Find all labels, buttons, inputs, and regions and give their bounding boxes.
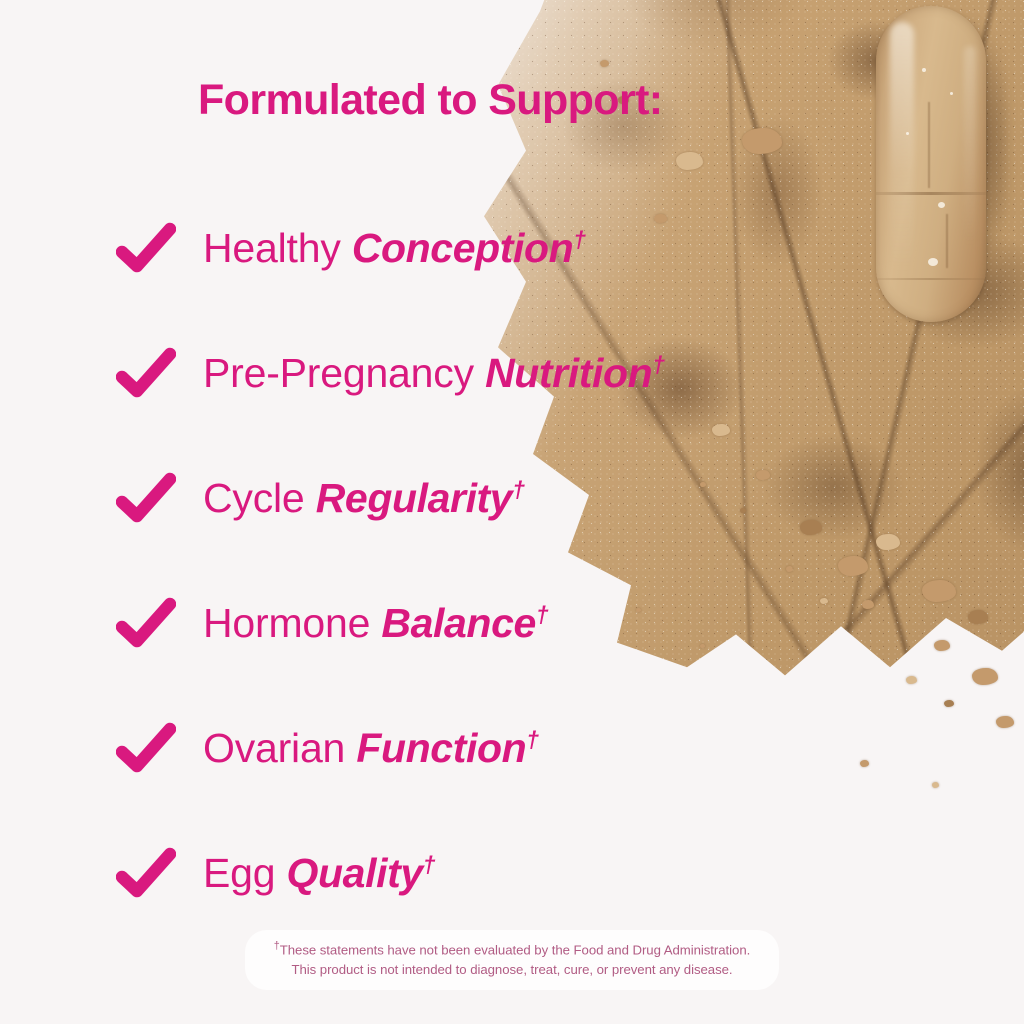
page-title: Formulated to Support: [198, 76, 663, 125]
benefit-emphasis: Regularity [316, 475, 513, 521]
list-item-text: Cycle Regularity† [203, 478, 525, 519]
checkmark-icon [116, 846, 176, 902]
list-item-text: Egg Quality† [203, 853, 436, 894]
list-item-text: Pre-Pregnancy Nutrition† [203, 353, 665, 394]
benefit-dagger: † [526, 726, 539, 752]
list-item: Cycle Regularity† [0, 436, 1024, 561]
list-item: Ovarian Function† [0, 686, 1024, 811]
benefit-lead: Hormone [203, 600, 381, 646]
list-item: Egg Quality† [0, 811, 1024, 936]
list-item: Hormone Balance† [0, 561, 1024, 686]
list-item-text: Ovarian Function† [203, 728, 539, 769]
benefits-list: Healthy Conception† Pre-Pregnancy Nutrit… [0, 186, 1024, 936]
benefit-dagger: † [423, 851, 436, 877]
checkmark-icon [116, 596, 176, 652]
benefit-emphasis: Nutrition [485, 350, 652, 396]
disclaimer-line-1: †These statements have not been evaluate… [267, 939, 757, 960]
benefit-lead: Ovarian [203, 725, 356, 771]
benefit-dagger: † [536, 601, 549, 627]
benefit-dagger: † [573, 226, 586, 252]
checkmark-icon [116, 721, 176, 777]
disclaimer-line-2: This product is not intended to diagnose… [267, 960, 757, 979]
checkmark-icon [116, 221, 176, 277]
disclaimer-line-1-text: These statements have not been evaluated… [280, 942, 750, 957]
benefit-dagger: † [652, 351, 665, 377]
benefit-emphasis: Quality [287, 850, 423, 896]
list-item: Pre-Pregnancy Nutrition† [0, 311, 1024, 436]
benefit-emphasis: Function [356, 725, 526, 771]
list-item-text: Hormone Balance† [203, 603, 549, 644]
checkmark-icon [116, 471, 176, 527]
list-item: Healthy Conception† [0, 186, 1024, 311]
fda-disclaimer: †These statements have not been evaluate… [245, 930, 779, 990]
list-item-text: Healthy Conception† [203, 228, 586, 269]
benefit-lead: Pre-Pregnancy [203, 350, 485, 396]
product-benefits-graphic: Formulated to Support: Healthy Conceptio… [0, 0, 1024, 1024]
benefit-lead: Cycle [203, 475, 316, 521]
checkmark-icon [116, 346, 176, 402]
benefit-dagger: † [512, 476, 525, 502]
benefit-lead: Egg [203, 850, 287, 896]
benefit-emphasis: Balance [381, 600, 535, 646]
benefit-emphasis: Conception [352, 225, 573, 271]
benefit-lead: Healthy [203, 225, 352, 271]
